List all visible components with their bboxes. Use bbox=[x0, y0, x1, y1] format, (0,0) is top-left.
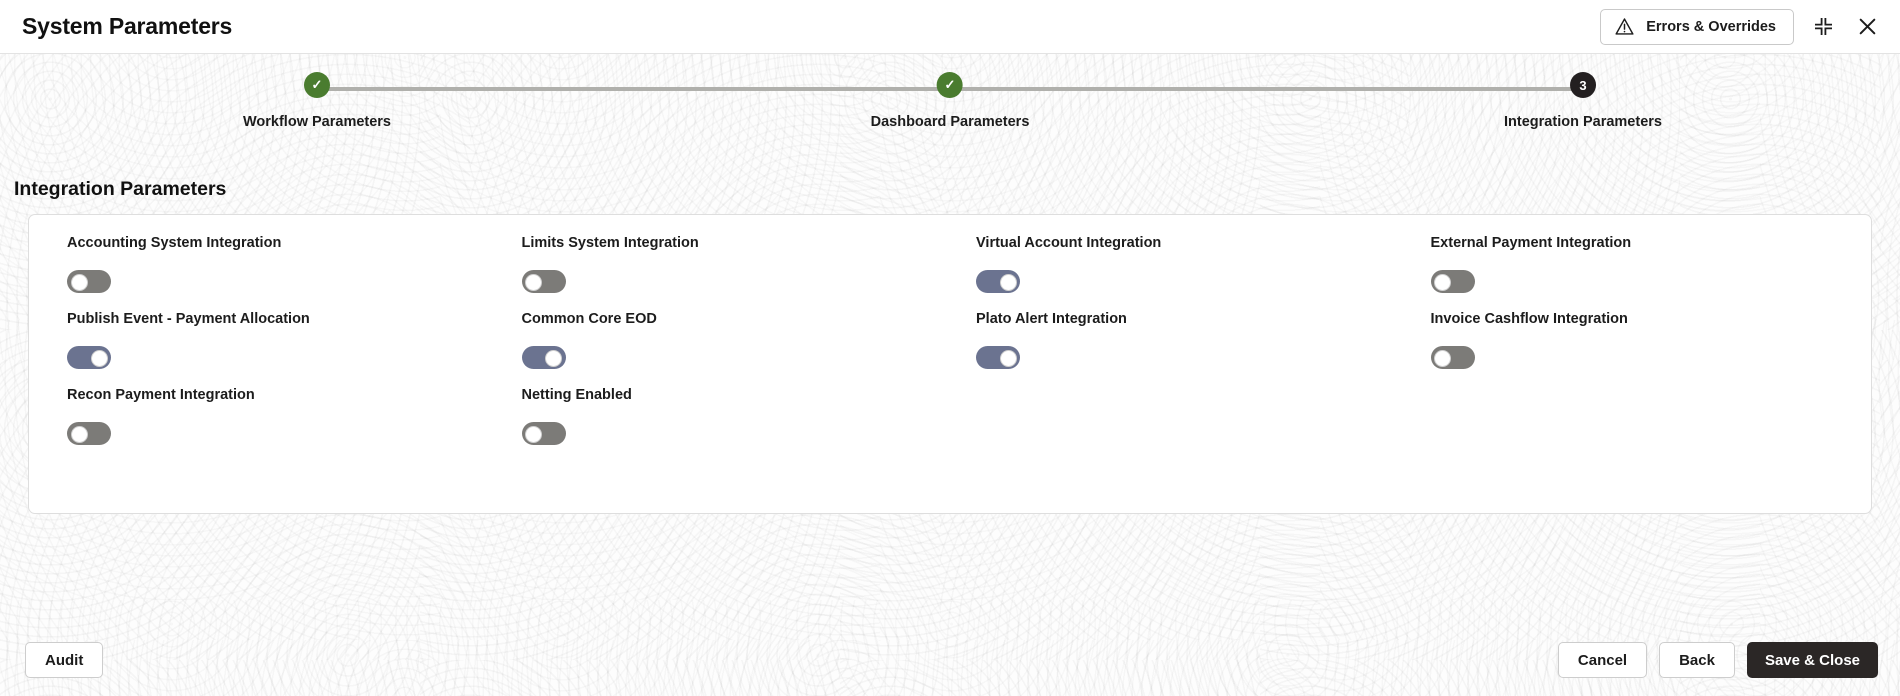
step-circle-done: ✓ bbox=[937, 72, 963, 98]
step-circle-active: 3 bbox=[1570, 72, 1596, 98]
toggle-knob bbox=[545, 350, 562, 367]
param-netting-enabled: Netting Enabled bbox=[496, 387, 951, 445]
param-recon-payment-integration: Recon Payment Integration bbox=[41, 387, 496, 445]
toggle-virtual-account-integration[interactable] bbox=[976, 270, 1020, 293]
param-label: Accounting System Integration bbox=[67, 235, 496, 257]
system-parameters-dialog: System Parameters Errors & Overrides bbox=[0, 0, 1900, 696]
param-label: Limits System Integration bbox=[522, 235, 951, 257]
param-accounting-system-integration: Accounting System Integration bbox=[41, 235, 496, 293]
toggle-invoice-cashflow-integration[interactable] bbox=[1431, 346, 1475, 369]
toggle-limits-system-integration[interactable] bbox=[522, 270, 566, 293]
toggle-common-core-eod[interactable] bbox=[522, 346, 566, 369]
param-publish-event-payment-allocation: Publish Event - Payment Allocation bbox=[41, 311, 496, 369]
collapse-corners-icon[interactable] bbox=[1808, 12, 1838, 42]
param-virtual-account-integration: Virtual Account Integration bbox=[950, 235, 1405, 293]
param-label: Plato Alert Integration bbox=[976, 311, 1405, 333]
wizard-stepper: ✓ Workflow Parameters ✓ Dashboard Parame… bbox=[0, 54, 1900, 144]
warning-triangle-icon bbox=[1614, 16, 1635, 37]
toggle-external-payment-integration[interactable] bbox=[1431, 270, 1475, 293]
param-plato-alert-integration: Plato Alert Integration bbox=[950, 311, 1405, 369]
save-and-close-button[interactable]: Save & Close bbox=[1747, 642, 1878, 678]
param-external-payment-integration: External Payment Integration bbox=[1405, 235, 1860, 293]
toggle-knob bbox=[525, 274, 542, 291]
toggle-accounting-system-integration[interactable] bbox=[67, 270, 111, 293]
stepper-step-workflow-parameters[interactable]: ✓ Workflow Parameters bbox=[243, 72, 391, 130]
header-actions: Errors & Overrides bbox=[1600, 9, 1882, 45]
errors-and-overrides-label: Errors & Overrides bbox=[1646, 19, 1776, 35]
stepper-step-integration-parameters[interactable]: 3 Integration Parameters bbox=[1504, 72, 1662, 130]
toggle-netting-enabled[interactable] bbox=[522, 422, 566, 445]
param-label: Recon Payment Integration bbox=[67, 387, 496, 409]
param-limits-system-integration: Limits System Integration bbox=[496, 235, 951, 293]
step-circle-done: ✓ bbox=[304, 72, 330, 98]
errors-and-overrides-button[interactable]: Errors & Overrides bbox=[1600, 9, 1794, 45]
close-x-icon[interactable] bbox=[1852, 12, 1882, 42]
toggle-knob bbox=[525, 426, 542, 443]
toggle-knob bbox=[1434, 274, 1451, 291]
stepper-step-dashboard-parameters[interactable]: ✓ Dashboard Parameters bbox=[871, 72, 1030, 130]
toggle-knob bbox=[1000, 274, 1017, 291]
toggle-knob bbox=[1434, 350, 1451, 367]
back-button[interactable]: Back bbox=[1659, 642, 1735, 678]
param-label: Netting Enabled bbox=[522, 387, 951, 409]
footer-actions: Cancel Back Save & Close bbox=[1558, 642, 1878, 678]
integration-parameters-card: Accounting System Integration Limits Sys… bbox=[28, 214, 1872, 514]
param-label: Common Core EOD bbox=[522, 311, 951, 333]
param-common-core-eod: Common Core EOD bbox=[496, 311, 951, 369]
toggle-recon-payment-integration[interactable] bbox=[67, 422, 111, 445]
section-heading: Integration Parameters bbox=[14, 178, 226, 201]
toggle-knob bbox=[91, 350, 108, 367]
page-title: System Parameters bbox=[22, 13, 232, 40]
stepper-step-label: Dashboard Parameters bbox=[871, 114, 1030, 130]
param-label: Invoice Cashflow Integration bbox=[1431, 311, 1860, 333]
dialog-footer: Audit Cancel Back Save & Close bbox=[0, 624, 1900, 696]
stepper-step-label: Integration Parameters bbox=[1504, 114, 1662, 130]
parameter-grid: Accounting System Integration Limits Sys… bbox=[41, 235, 1859, 445]
toggle-knob bbox=[71, 426, 88, 443]
param-label: Publish Event - Payment Allocation bbox=[67, 311, 496, 333]
toggle-knob bbox=[1000, 350, 1017, 367]
param-invoice-cashflow-integration: Invoice Cashflow Integration bbox=[1405, 311, 1860, 369]
audit-button[interactable]: Audit bbox=[25, 642, 103, 678]
cancel-button[interactable]: Cancel bbox=[1558, 642, 1647, 678]
toggle-plato-alert-integration[interactable] bbox=[976, 346, 1020, 369]
param-label: External Payment Integration bbox=[1431, 235, 1860, 257]
stepper-step-label: Workflow Parameters bbox=[243, 114, 391, 130]
toggle-publish-event-payment-allocation[interactable] bbox=[67, 346, 111, 369]
dialog-header: System Parameters Errors & Overrides bbox=[0, 0, 1900, 54]
param-label: Virtual Account Integration bbox=[976, 235, 1405, 257]
toggle-knob bbox=[71, 274, 88, 291]
